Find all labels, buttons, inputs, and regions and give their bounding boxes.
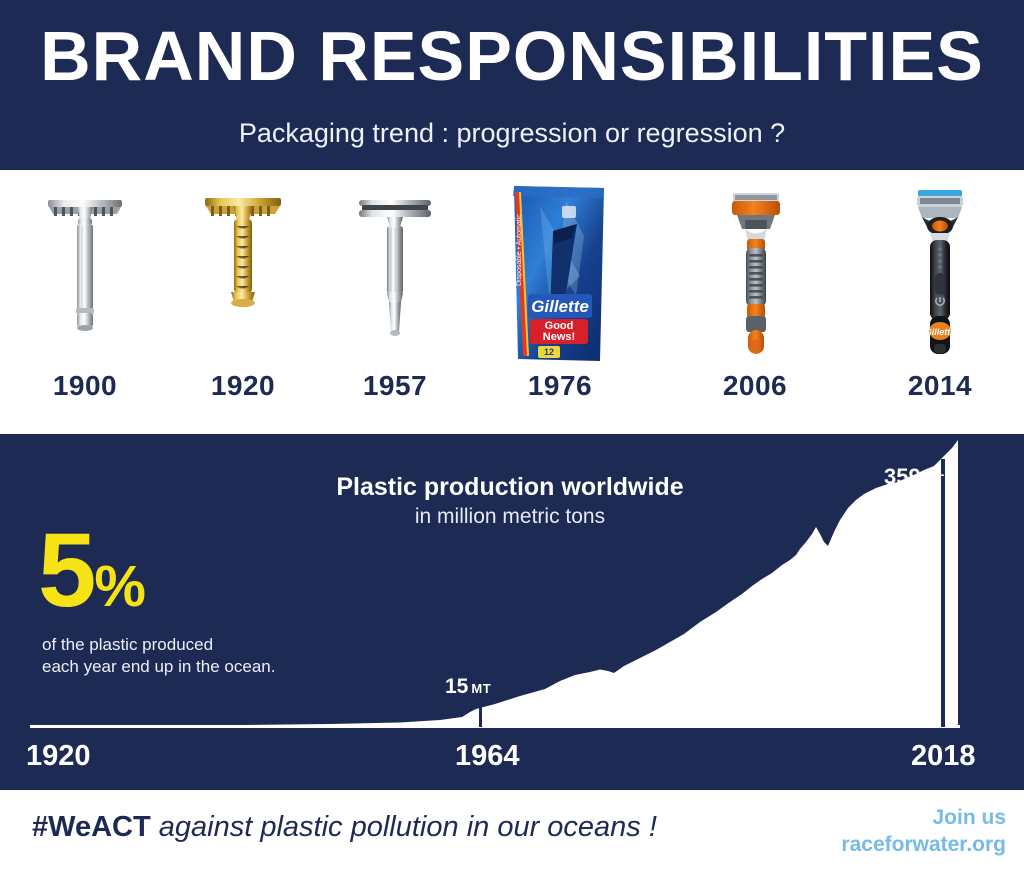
x-axis-tick-2018: 2018 bbox=[911, 740, 976, 773]
safety-razor-1920-icon bbox=[163, 176, 323, 371]
safety-razor-1900-icon bbox=[5, 176, 165, 371]
infographic-poster: BRAND RESPONSIBILITIES Packaging trend :… bbox=[0, 0, 1024, 871]
annotation-15-value: 15 bbox=[445, 675, 468, 698]
svg-text:News!: News! bbox=[543, 331, 575, 343]
plastic-production-chart-section: Plastic production worldwide in million … bbox=[0, 434, 1024, 790]
annotation-359-unit: MT bbox=[924, 472, 945, 487]
gillette-good-news-pack-icon: Gillette Good News! 12 Disposable • Auto… bbox=[480, 176, 640, 371]
chart-baseline-axis bbox=[30, 725, 960, 728]
footer-band: #WeACT against plastic pollution in our … bbox=[0, 790, 1024, 871]
header-band: BRAND RESPONSIBILITIES Packaging trend :… bbox=[0, 0, 1024, 170]
timeline-item-1976: Gillette Good News! 12 Disposable • Auto… bbox=[480, 170, 640, 434]
x-axis-tick-1964: 1964 bbox=[455, 740, 520, 773]
svg-text:Gillette: Gillette bbox=[531, 297, 589, 316]
timeline-year-label: 2006 bbox=[675, 370, 835, 402]
annotation-359-value: 359 bbox=[884, 464, 921, 489]
chart-annotation-15: 15MT bbox=[445, 675, 491, 699]
svg-text:Disposable • Automatic: Disposable • Automatic bbox=[516, 214, 523, 286]
timeline-year-label: 1976 bbox=[480, 370, 640, 402]
timeline-item-1900: 1900 bbox=[5, 170, 165, 434]
join-us-label: Join us bbox=[746, 804, 1006, 831]
timeline-year-label: 1957 bbox=[315, 370, 475, 402]
timeline-year-label: 1920 bbox=[163, 370, 323, 402]
join-us-block[interactable]: Join us raceforwater.org bbox=[746, 804, 1006, 858]
timeline-year-label: 2014 bbox=[860, 370, 1020, 402]
area-series-plastic-production bbox=[30, 440, 958, 727]
website-link[interactable]: raceforwater.org bbox=[746, 831, 1006, 858]
svg-text:Gillette: Gillette bbox=[925, 327, 956, 337]
campaign-hashtag: #WeACT bbox=[32, 811, 151, 843]
timeline-year-label: 1900 bbox=[5, 370, 165, 402]
timeline-item-1957: 1957 bbox=[315, 170, 475, 434]
x-axis-tick-1920: 1920 bbox=[26, 740, 91, 773]
page-subtitle: Packaging trend : progression or regress… bbox=[0, 117, 1024, 149]
campaign-slogan-text: against plastic pollution in our oceans … bbox=[151, 811, 657, 843]
page-title: BRAND RESPONSIBILITIES bbox=[0, 18, 1024, 94]
plastic-production-area-chart bbox=[0, 434, 1024, 790]
timeline-item-2014: Gillette 2014 bbox=[860, 170, 1020, 434]
chart-annotation-359: 359MT bbox=[884, 464, 944, 490]
chart-marker-2018 bbox=[941, 459, 945, 727]
svg-text:12: 12 bbox=[544, 347, 554, 357]
gillette-fusion-razor-icon bbox=[675, 176, 835, 371]
campaign-slogan: #WeACT against plastic pollution in our … bbox=[32, 811, 657, 844]
razor-timeline-band: 1900 bbox=[0, 170, 1024, 434]
safety-razor-1957-icon bbox=[315, 176, 475, 371]
timeline-item-1920: 1920 bbox=[163, 170, 323, 434]
annotation-15-unit: MT bbox=[471, 681, 491, 696]
timeline-item-2006: 2006 bbox=[675, 170, 835, 434]
gillette-proglide-flexball-razor-icon: Gillette bbox=[860, 176, 1020, 371]
